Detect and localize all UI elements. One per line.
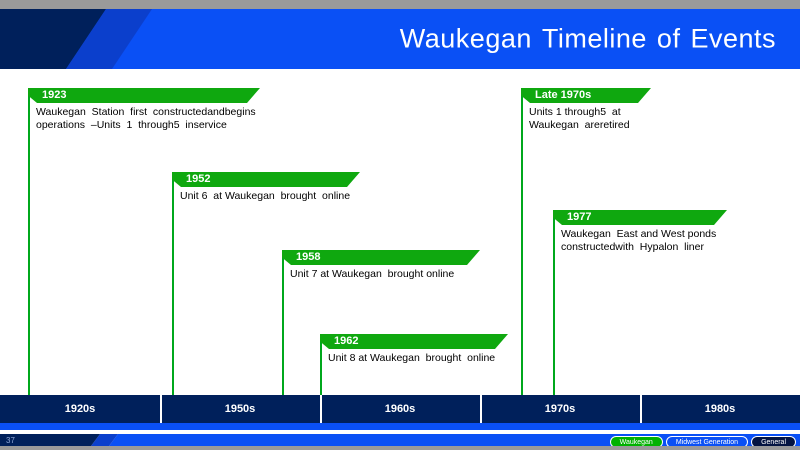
event-description: Unit 7 at Waukegan brought online (282, 265, 480, 281)
event-year-banner: 1962 (320, 334, 508, 349)
page-title-word-2: Timeline (542, 24, 647, 54)
axis-decade-1970s: 1970s (480, 395, 640, 423)
event-year-banner: 1958 (282, 250, 480, 265)
slide-header: WaukeganTimelineofEvents (0, 9, 800, 69)
page-title-word-1: Waukegan (400, 24, 532, 54)
timeline-event[interactable]: Late 1970sUnits 1 through5 at Waukegan a… (521, 88, 651, 132)
page-title-word-3: of (657, 24, 681, 54)
event-connector-line (172, 172, 174, 395)
event-year-banner: Late 1970s (521, 88, 651, 103)
event-connector-line (28, 88, 30, 395)
event-description: Unit 6 at Waukegan brought online (172, 187, 360, 203)
event-description: Waukegan East and West ponds constructed… (553, 225, 727, 254)
axis-decade-1960s: 1960s (320, 395, 480, 423)
timeline-event[interactable]: 1952Unit 6 at Waukegan brought online (172, 172, 360, 203)
event-description: Waukegan Station first constructedandbeg… (28, 103, 260, 132)
bottom-grey-strip (0, 446, 800, 450)
top-grey-strip (0, 0, 800, 9)
page-number: 37 (6, 436, 15, 445)
slide-canvas: WaukeganTimelineofEvents 1923Waukegan St… (0, 0, 800, 450)
page-title: WaukeganTimelineofEvents (400, 24, 776, 55)
timeline-event[interactable]: 1923Waukegan Station first constructedan… (28, 88, 260, 132)
axis-decade-1980s: 1980s (640, 395, 800, 423)
event-connector-line (521, 88, 523, 395)
timeline-event[interactable]: 1977Waukegan East and West ponds constru… (553, 210, 727, 254)
event-description: Units 1 through5 at Waukegan areretired (521, 103, 651, 132)
event-year-banner: 1923 (28, 88, 260, 103)
timeline-event[interactable]: 1958Unit 7 at Waukegan brought online (282, 250, 480, 281)
event-year-banner: 1977 (553, 210, 727, 225)
axis-decade-1920s: 1920s (0, 395, 160, 423)
axis-underline-bar (0, 423, 800, 430)
page-title-word-4: Events (690, 24, 776, 54)
timeline-plot-area: 1923Waukegan Station first constructedan… (0, 69, 800, 395)
timeline-decade-axis: 1920s1950s1960s1970s1980s (0, 395, 800, 423)
timeline-event[interactable]: 1962Unit 8 at Waukegan brought online (320, 334, 508, 365)
event-description: Unit 8 at Waukegan brought online (320, 349, 508, 365)
axis-decade-1950s: 1950s (160, 395, 320, 423)
event-year-banner: 1952 (172, 172, 360, 187)
